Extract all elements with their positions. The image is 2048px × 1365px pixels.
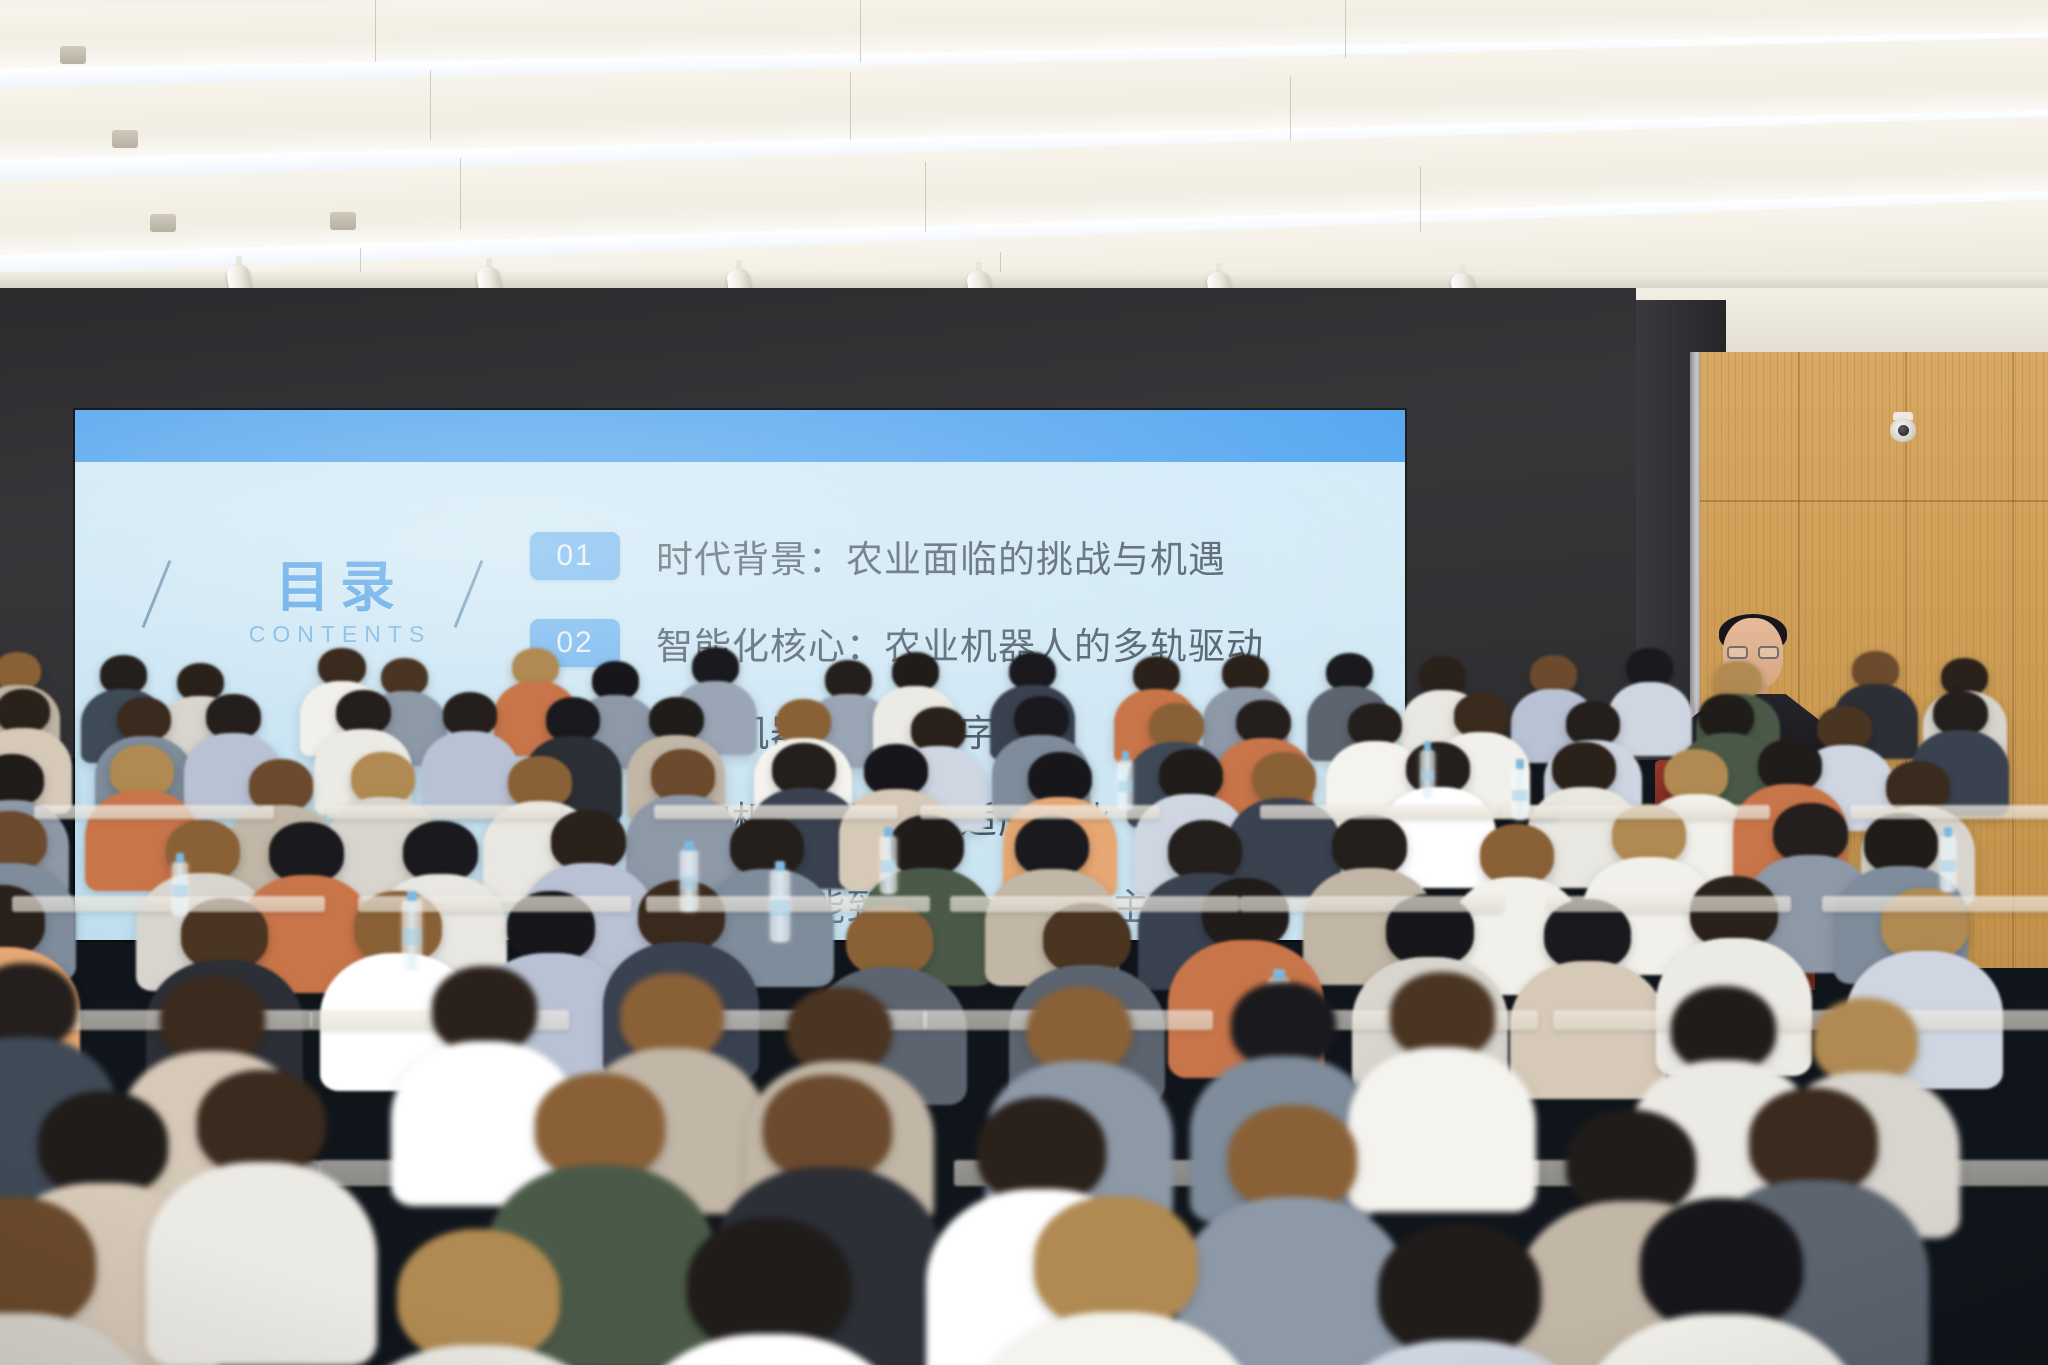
audience-member-head xyxy=(1231,982,1336,1068)
audience xyxy=(0,600,2048,1365)
list-item-label: 时代背景：农业面临的挑战与机遇 xyxy=(656,529,1226,583)
audience-member-head xyxy=(620,973,725,1059)
audience-member-head xyxy=(1390,972,1495,1058)
lecture-hall-photo: 目录 CONTENTS 01 时代背景：农业面临的挑战与机遇 02 智能化核心：… xyxy=(0,0,2048,1365)
audience-member-head xyxy=(1749,1088,1878,1193)
audience-member-head xyxy=(432,966,537,1052)
audience-member-head xyxy=(763,1075,892,1180)
security-camera-icon xyxy=(1890,412,1916,442)
audience-member-head xyxy=(977,1097,1106,1202)
audience-member-head xyxy=(535,1073,664,1178)
audience-member-head xyxy=(38,1091,167,1196)
audience-member-head xyxy=(1034,1196,1197,1329)
audience-member-head xyxy=(197,1070,326,1175)
audience-member-head xyxy=(1378,1224,1541,1357)
audience-member-head xyxy=(0,963,77,1049)
list-item: 01 时代背景：农业面临的挑战与机遇 xyxy=(530,530,1390,582)
audience-member-head xyxy=(160,976,265,1062)
audience-member-head xyxy=(787,987,892,1073)
audience-member-head xyxy=(1566,1110,1695,1215)
audience-member-head xyxy=(1640,1198,1803,1331)
audience-member-torso xyxy=(146,1162,377,1365)
ceiling xyxy=(0,0,2048,300)
audience-member-head xyxy=(1813,998,1918,1084)
audience-member-head xyxy=(687,1218,850,1351)
audience-member-head xyxy=(1671,986,1776,1072)
audience-member-torso xyxy=(1348,1047,1536,1213)
audience-member-head xyxy=(397,1229,560,1362)
lighting-track xyxy=(0,272,2048,288)
audience-member-head xyxy=(1027,987,1132,1073)
slide-band-curve-icon xyxy=(495,410,835,482)
list-item-number: 01 xyxy=(530,532,620,580)
audience-member-head xyxy=(1228,1105,1357,1210)
